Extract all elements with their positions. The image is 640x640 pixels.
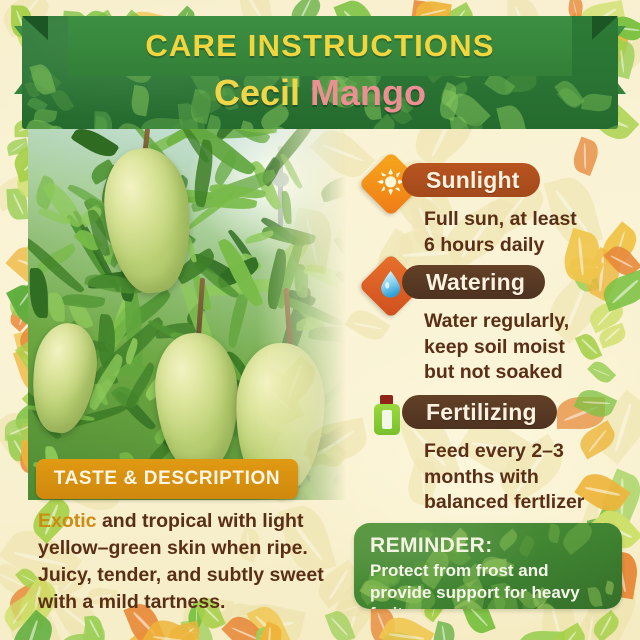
care-label-watering: Watering xyxy=(402,265,545,299)
care-section-fertilizing: Fertilizing Feed every 2–3 months with b… xyxy=(368,392,630,516)
fertilizer-bottle-icon xyxy=(374,395,400,435)
plant-photo xyxy=(28,128,346,500)
plant-name-second: Mango xyxy=(310,72,426,113)
taste-description-text: Exotic and tropical with light yellow–gr… xyxy=(38,508,338,616)
care-text-fertilizing: Feed every 2–3 months with balanced fert… xyxy=(368,439,630,516)
care-header-sunlight: Sunlight xyxy=(368,160,630,200)
fertilizer-bottle-label xyxy=(382,410,392,429)
plant-name-first: Cecil xyxy=(214,72,300,113)
reminder-title: REMINDER: xyxy=(370,534,608,557)
care-instructions-poster: CARE INSTRUCTIONS Cecil Mango xyxy=(0,0,640,640)
page-title: CARE INSTRUCTIONS xyxy=(145,28,494,64)
care-label-fertilizing: Fertilizing xyxy=(402,395,557,429)
taste-highlight-word: Exotic xyxy=(38,510,97,532)
care-header-fertilizing: Fertilizing xyxy=(368,392,630,432)
care-section-watering: Watering Water regularly, keep soil mois… xyxy=(368,262,630,386)
care-text-sunlight: Full sun, at least 6 hours daily xyxy=(368,207,630,258)
care-text-watering: Water regularly, keep soil moist but not… xyxy=(368,309,630,386)
water-drop-icon-glyph xyxy=(379,270,403,303)
care-header-watering: Watering xyxy=(368,262,630,302)
care-section-sunlight: Sunlight Full sun, at least 6 hours dail… xyxy=(368,160,630,258)
care-label-sunlight: Sunlight xyxy=(402,163,540,197)
banner-title-bar: CARE INSTRUCTIONS xyxy=(68,16,572,76)
decorative-leaf xyxy=(596,122,618,129)
header-banner: CARE INSTRUCTIONS Cecil Mango xyxy=(0,0,640,130)
decorative-leaf xyxy=(237,121,255,129)
plant-name: Cecil Mango xyxy=(0,72,640,114)
taste-description-heading: TASTE & DESCRIPTION xyxy=(54,468,280,490)
taste-description-banner: TASTE & DESCRIPTION xyxy=(36,459,298,499)
decorative-leaf xyxy=(292,125,326,129)
reminder-box: REMINDER: Protect from frost and provide… xyxy=(354,523,622,609)
reminder-text: Protect from frost and provide support f… xyxy=(370,560,608,609)
